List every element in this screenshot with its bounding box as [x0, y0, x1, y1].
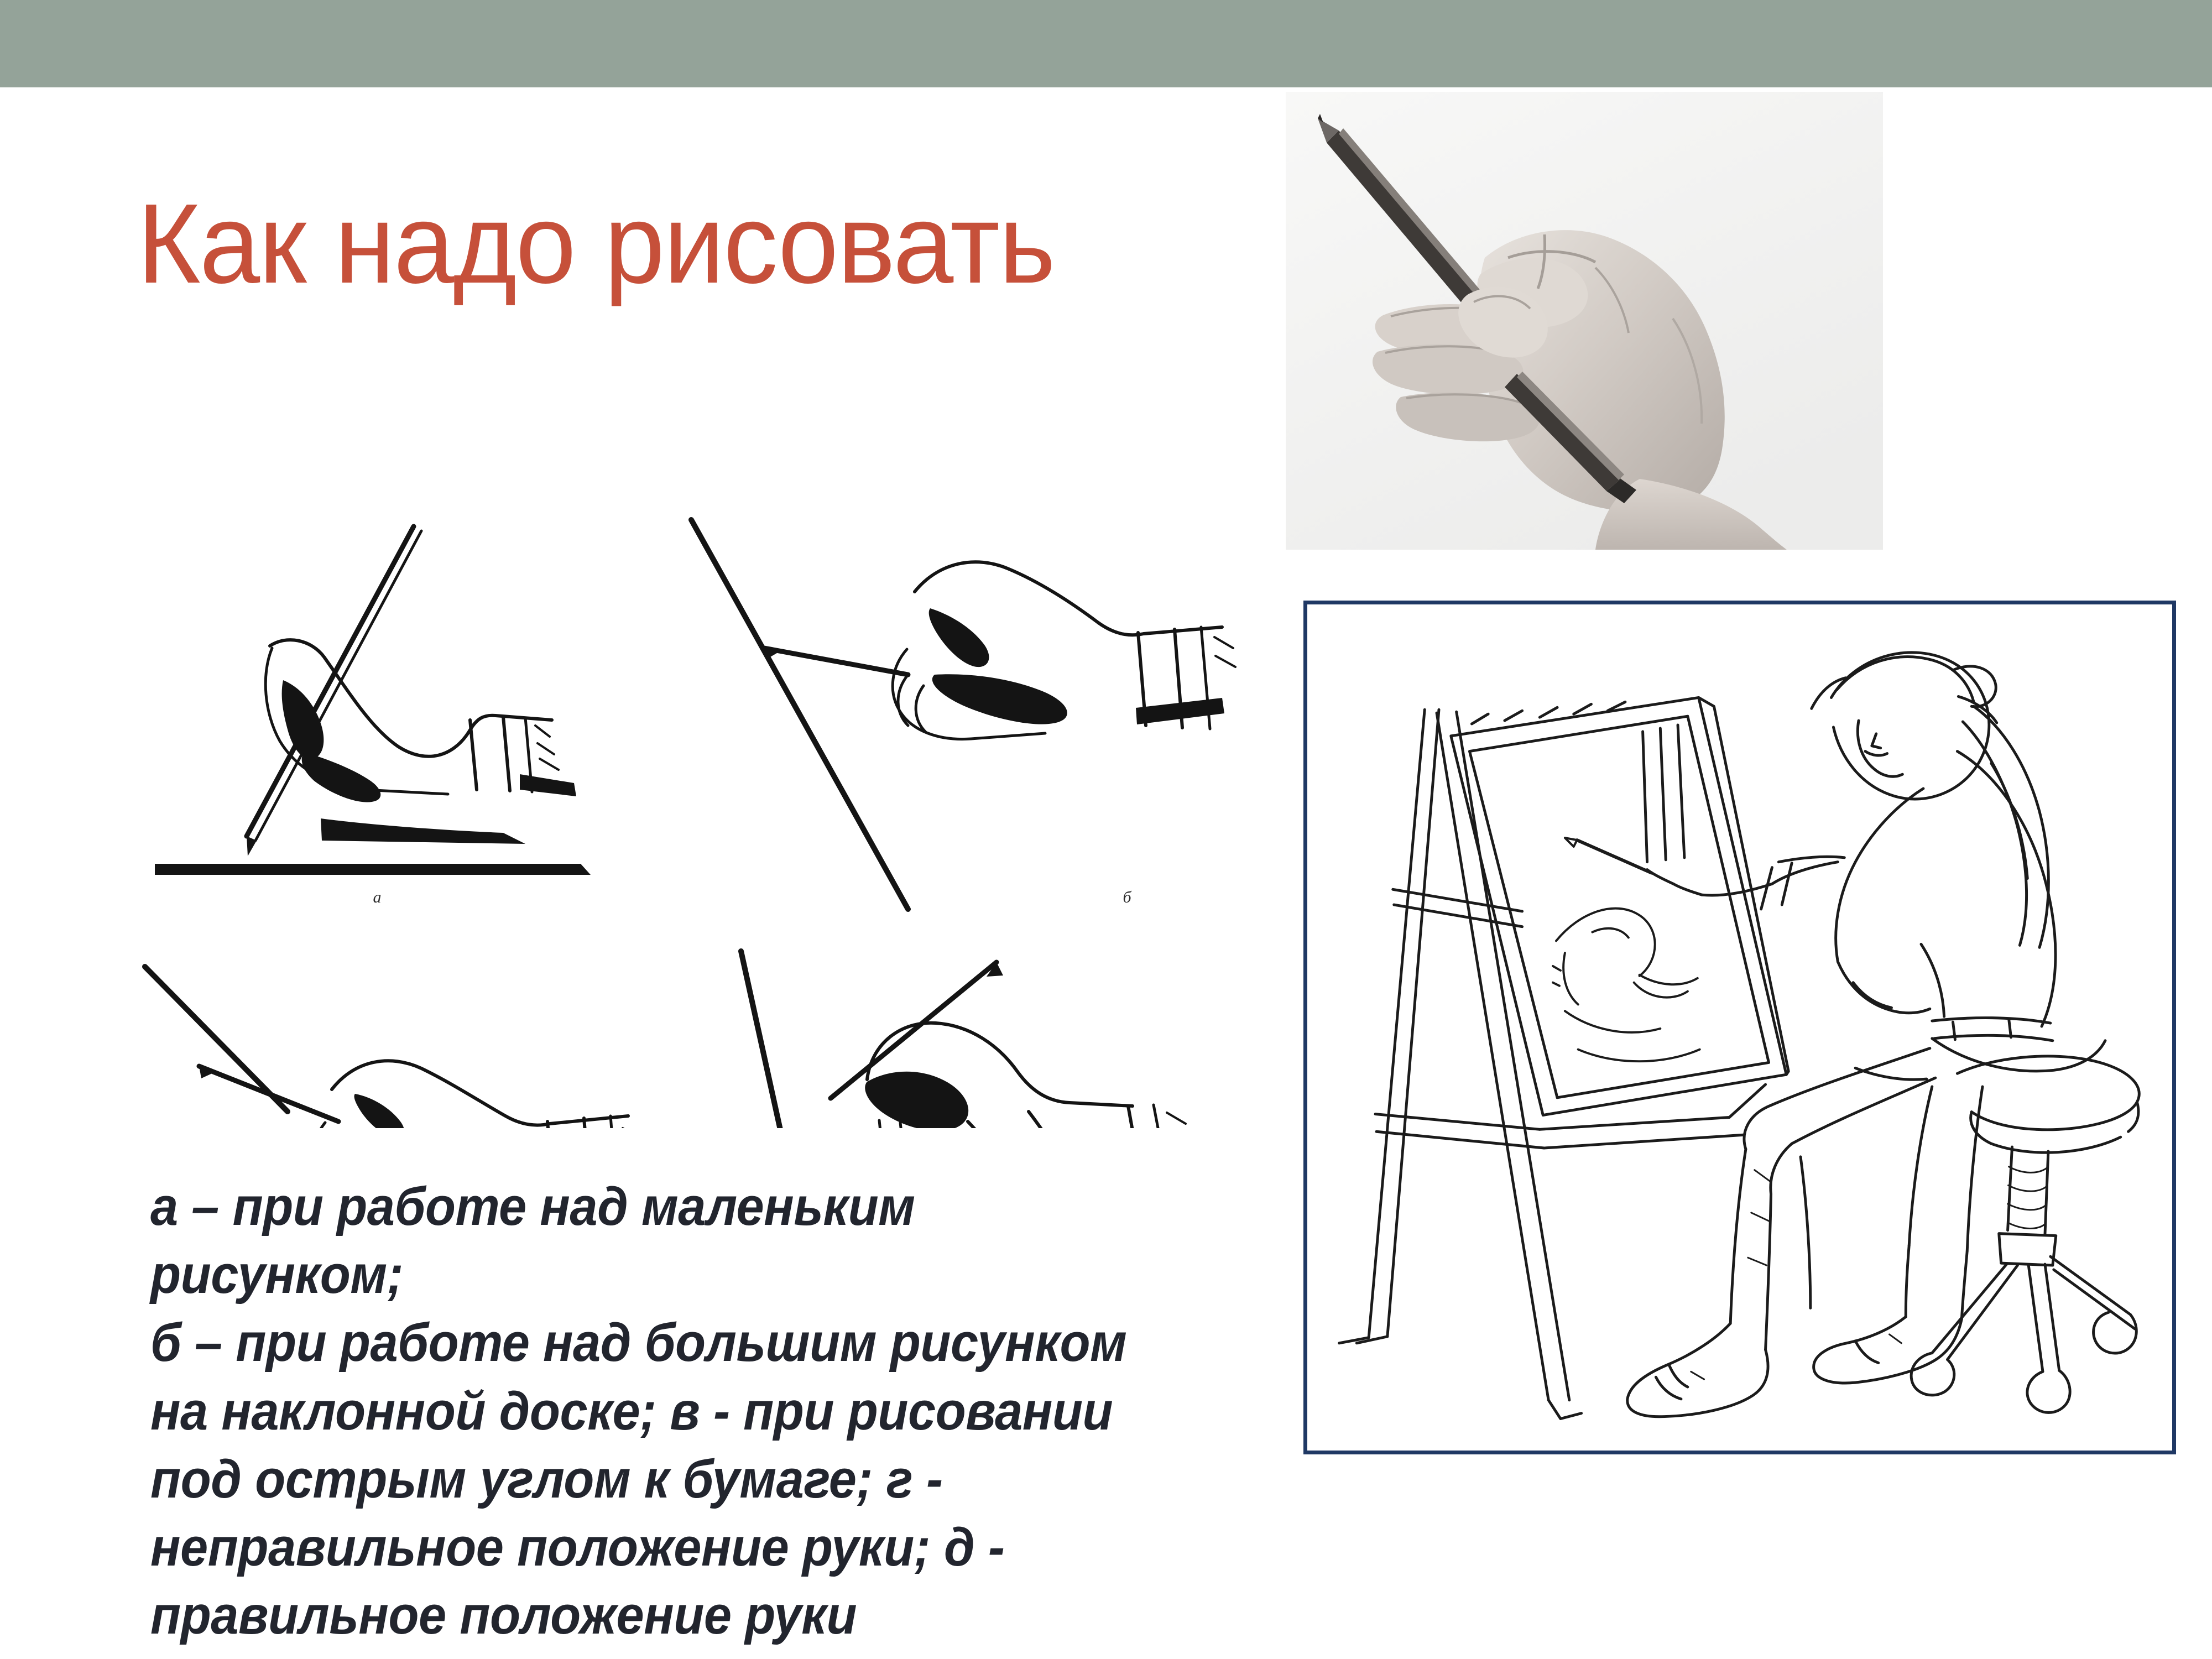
grip-panel-b: б	[691, 520, 1235, 909]
page-title: Как надо рисовать	[137, 182, 1231, 305]
caption-line: а – при работе над маленьким	[150, 1172, 1220, 1240]
grip-panel-c: в	[145, 967, 643, 1128]
pencil-grip-figure: а б	[138, 509, 1300, 1128]
figure-caption: а – при работе над маленьким рисунком; б…	[150, 1172, 1220, 1649]
girl-drawing-at-easel-illustration	[1307, 604, 2172, 1451]
easel-illustration-box	[1303, 601, 2176, 1454]
caption-line: на наклонной доске; в - при рисовании	[150, 1377, 1220, 1445]
caption-line: б – при работе над большим рисунком	[150, 1308, 1220, 1376]
grip-panel-a: а	[155, 526, 591, 906]
grip-panel-d: г	[741, 951, 1186, 1128]
caption-line: правильное положение руки	[150, 1581, 1220, 1649]
hand-photo-graphic	[1286, 92, 1883, 550]
caption-line: под острым углом к бумаге; г -	[150, 1445, 1220, 1513]
caption-line: рисунком;	[150, 1240, 1220, 1308]
grip-panel-b-label: б	[1123, 888, 1131, 906]
top-decorative-band	[0, 0, 2212, 87]
grip-panel-a-label: а	[373, 888, 382, 906]
caption-line: неправильное положение руки; д -	[150, 1513, 1220, 1581]
pencil-grip-illustration: а б	[138, 509, 1300, 1128]
hand-holding-pencil-photo	[1286, 92, 1883, 550]
